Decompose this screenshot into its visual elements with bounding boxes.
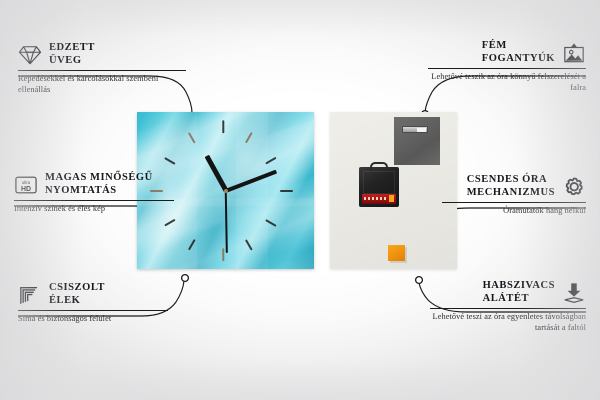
diamond-icon [18,44,42,66]
feature-title-line2: ALÁTÉT [483,293,555,306]
feature-high-quality-print: ultra HD MAGAS MINŐSÉGŰ NYOMTATÁS Intenz… [14,172,174,215]
feature-title-row: FÉM FOGANTYÚK [428,40,586,65]
clock-back-panel [330,112,457,269]
polished-edges-icon [18,284,42,306]
gear-icon [562,176,586,198]
feature-title-line1: MAGAS MINŐSÉGŰ [45,172,153,185]
feature-title-line2: NYOMTATÁS [45,185,153,198]
picture-hanger-icon [562,42,586,64]
feature-metal-handles: FÉM FOGANTYÚK Lehetővé teszik az óra kön… [428,40,586,93]
hanger-slot [402,126,428,133]
feature-subtitle: Sima és biztonságos felület [18,314,168,324]
hour-mark [223,248,225,261]
foam-pad-arrow-icon [562,282,586,304]
feature-polished-edges: CSISZOLT ÉLEK Sima és biztonságos felüle… [18,282,168,325]
feature-rule [18,70,186,71]
feature-subtitle: Lehetővé teszik az óra könnyű felszerelé… [428,72,586,93]
feature-title-line1: EDZETT [49,42,95,55]
movement-seam [363,171,395,194]
feature-subtitle: Repedésekkel és karcolásokkal szembeni e… [18,74,186,95]
feature-silent-mechanism: CSENDES ÓRA MECHANIZMUS Óramutatók hang … [442,174,586,217]
feature-title-row: CSENDES ÓRA MECHANIZMUS [442,174,586,199]
feature-title-line1: FÉM [482,40,555,53]
feature-title-line2: MECHANIZMUS [467,187,555,200]
svg-text:ultra: ultra [22,180,31,185]
hanger-loop [370,162,388,171]
hour-mark [280,190,293,192]
infographic-canvas: EDZETT ÜVEG Repedésekkel és karcolásokka… [0,0,600,400]
orange-foam-pad [388,245,405,261]
hour-mark [223,120,225,133]
product-photo [137,112,457,270]
feature-title-line2: FOGANTYÚK [482,53,555,66]
clock-pivot [224,189,228,193]
feature-title-row: CSISZOLT ÉLEK [18,282,168,307]
feature-subtitle: Intenzív színek és éles kép [14,204,174,214]
feature-title-line1: CSISZOLT [49,282,105,295]
ultra-hd-icon: ultra HD [14,174,38,196]
feature-subtitle: Lehetővé teszi az óra egyenletes távolsá… [430,312,586,333]
feature-rule [18,310,168,311]
feature-rule [14,200,174,201]
endpoint-foam [416,277,423,284]
metal-hanger-plate [394,117,440,165]
feature-title-line1: CSENDES ÓRA [467,174,555,187]
feature-title-row: ultra HD MAGAS MINŐSÉGŰ NYOMTATÁS [14,172,174,197]
feature-title-row: HABSZIVACS ALÁTÉT [430,280,586,305]
svg-text:HD: HD [21,185,31,192]
feature-rule [430,308,586,309]
endpoint-edges [182,275,189,282]
feature-title-line1: HABSZIVACS [483,280,555,293]
feature-subtitle: Óramutatók hang nélkül [442,206,586,216]
feature-title-row: EDZETT ÜVEG [18,42,186,67]
feature-title-line2: ÜVEG [49,55,95,68]
feature-rule [442,202,586,203]
feature-tempered-glass: EDZETT ÜVEG Repedésekkel és karcolásokka… [18,42,186,95]
battery [362,194,396,204]
feature-title-line2: ÉLEK [49,295,105,308]
clock-movement-box [359,167,399,207]
feature-rule [428,68,586,69]
feature-foam-pad: HABSZIVACS ALÁTÉT Lehetővé teszi az óra … [430,280,586,333]
